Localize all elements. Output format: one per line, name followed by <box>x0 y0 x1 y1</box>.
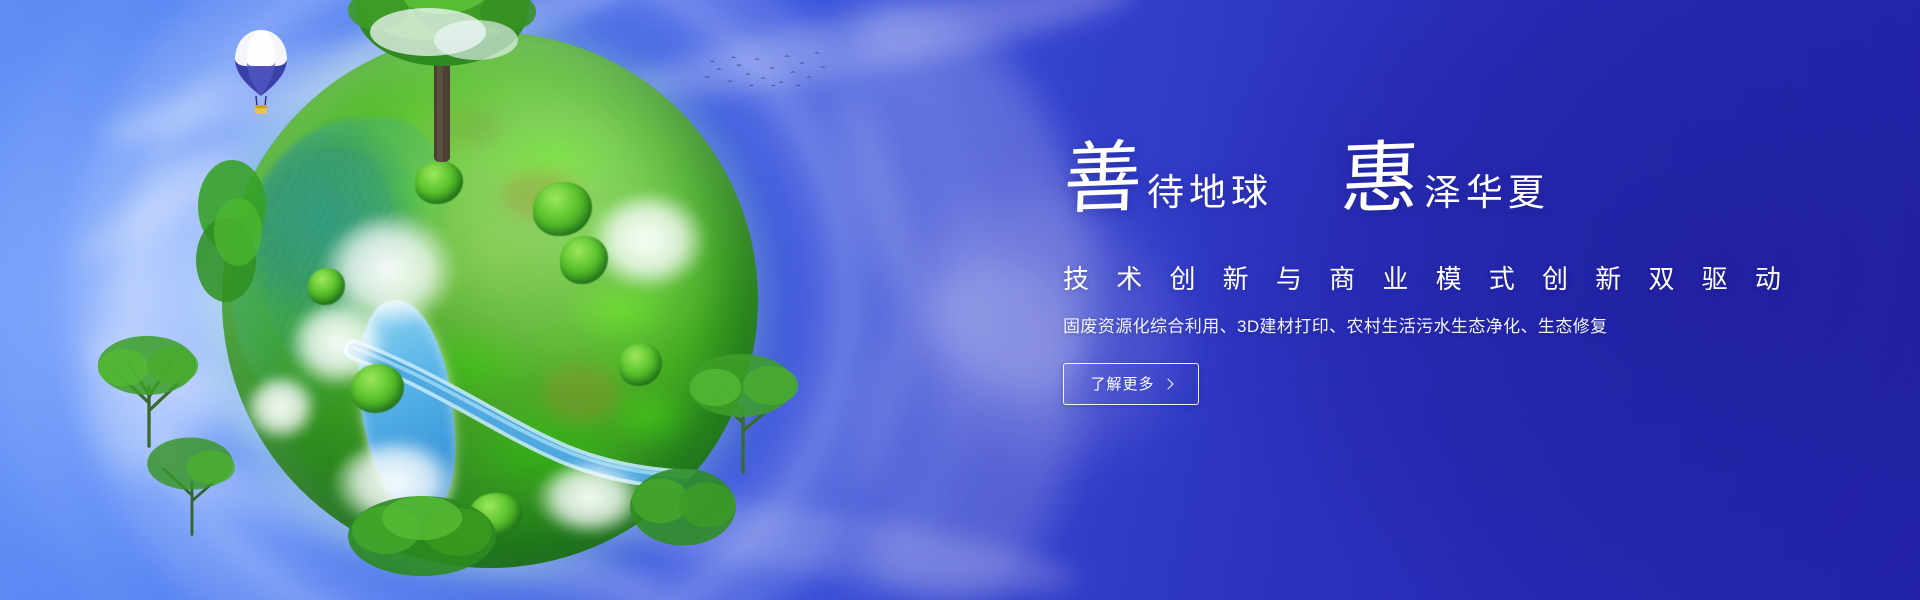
surface-cloud <box>243 375 329 455</box>
headline-big-char-2: 惠 <box>1339 139 1420 220</box>
hero-tree-icon <box>318 0 568 164</box>
bush <box>619 343 662 386</box>
learn-more-button[interactable]: 了解更多 <box>1063 363 1199 405</box>
headline-small-text-1: 待地球 <box>1147 174 1273 211</box>
headline-phrase-2: 惠 泽华夏 <box>1340 140 1550 218</box>
hero-subtitle: 技 术 创 新 与 商 业 模 式 创 新 双 驱 动 <box>1063 264 1763 295</box>
rim-tree <box>136 430 248 542</box>
rim-tree <box>342 484 502 600</box>
rim-tree <box>182 148 278 318</box>
rim-tree <box>624 452 746 572</box>
headline-phrase-1: 善 待地球 <box>1063 140 1273 218</box>
hero-copy-block: 善 待地球 惠 泽华夏 技 术 创 新 与 商 业 模 式 创 新 双 驱 动 … <box>1063 140 1763 405</box>
headline-small-text-2: 泽华夏 <box>1424 174 1550 211</box>
hot-air-balloon-icon <box>232 28 290 120</box>
hero-description: 固废资源化综合利用、3D建材打印、农村生活污水生态净化、生态修复 <box>1063 315 1763 339</box>
hero-headline: 善 待地球 惠 泽华夏 <box>1063 140 1763 258</box>
surface-cloud <box>586 193 725 311</box>
tiny-planet-illustration <box>222 32 758 568</box>
chevron-right-icon <box>1162 378 1173 389</box>
hero-banner: 善 待地球 惠 泽华夏 技 术 创 新 与 商 业 模 式 创 新 双 驱 动 … <box>0 0 1920 600</box>
bird-flock-icon <box>700 48 830 96</box>
headline-big-char-1: 善 <box>1062 139 1143 220</box>
learn-more-label: 了解更多 <box>1090 373 1154 394</box>
